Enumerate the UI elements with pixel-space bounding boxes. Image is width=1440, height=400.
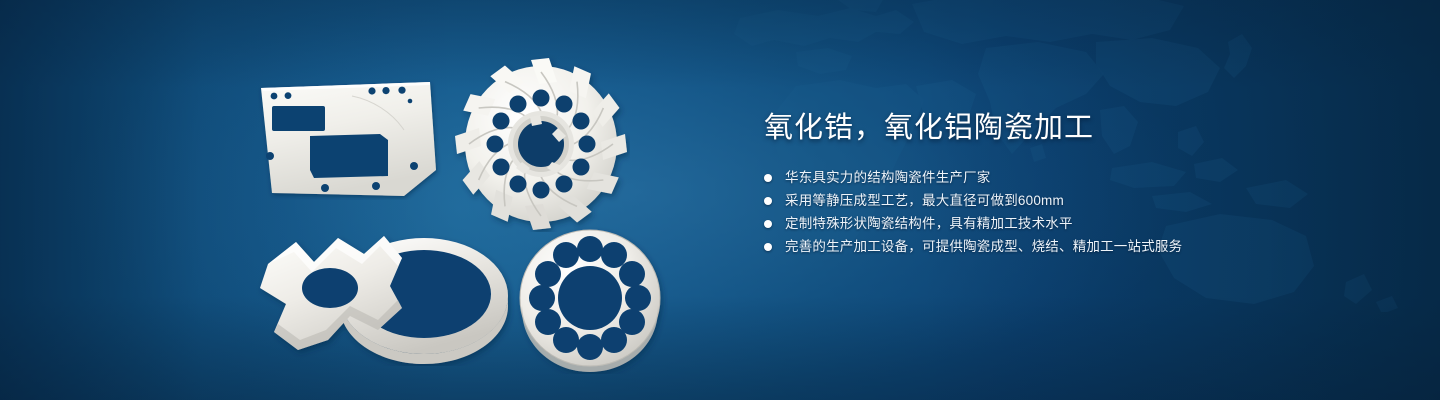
feature-text: 采用等静压成型工艺，最大直径可做到600mm bbox=[785, 193, 1064, 208]
hero-banner: 氧化锆，氧化铝陶瓷加工 华东具实力的结构陶瓷件生产厂家 采用等静压成型工艺，最大… bbox=[0, 0, 1440, 400]
feature-text: 华东具实力的结构陶瓷件生产厂家 bbox=[785, 170, 991, 185]
bullet-dot-icon bbox=[764, 174, 772, 182]
list-item: 定制特殊形状陶瓷结构件，具有精加工技术水平 bbox=[764, 216, 1384, 231]
bullet-dot-icon bbox=[764, 220, 772, 228]
product-image-group bbox=[0, 0, 720, 400]
banner-copy: 氧化锆，氧化铝陶瓷加工 华东具实力的结构陶瓷件生产厂家 采用等静压成型工艺，最大… bbox=[764, 110, 1384, 262]
page-title: 氧化锆，氧化铝陶瓷加工 bbox=[764, 110, 1384, 146]
feature-list: 华东具实力的结构陶瓷件生产厂家 采用等静压成型工艺，最大直径可做到600mm 定… bbox=[764, 170, 1384, 254]
list-item: 采用等静压成型工艺，最大直径可做到600mm bbox=[764, 193, 1384, 208]
ceramic-perforated-disc-image bbox=[516, 226, 668, 374]
ceramic-cross-and-ring-image bbox=[252, 224, 520, 366]
ceramic-impeller-disc-image bbox=[452, 52, 630, 232]
bullet-dot-icon bbox=[764, 243, 772, 251]
list-item: 完善的生产加工设备，可提供陶瓷成型、烧结、精加工一站式服务 bbox=[764, 239, 1384, 254]
feature-text: 定制特殊形状陶瓷结构件，具有精加工技术水平 bbox=[785, 216, 1073, 231]
feature-text: 完善的生产加工设备，可提供陶瓷成型、烧结、精加工一站式服务 bbox=[785, 239, 1182, 254]
ceramic-mounting-plate-image bbox=[252, 78, 442, 200]
list-item: 华东具实力的结构陶瓷件生产厂家 bbox=[764, 170, 1384, 185]
bullet-dot-icon bbox=[764, 197, 772, 205]
